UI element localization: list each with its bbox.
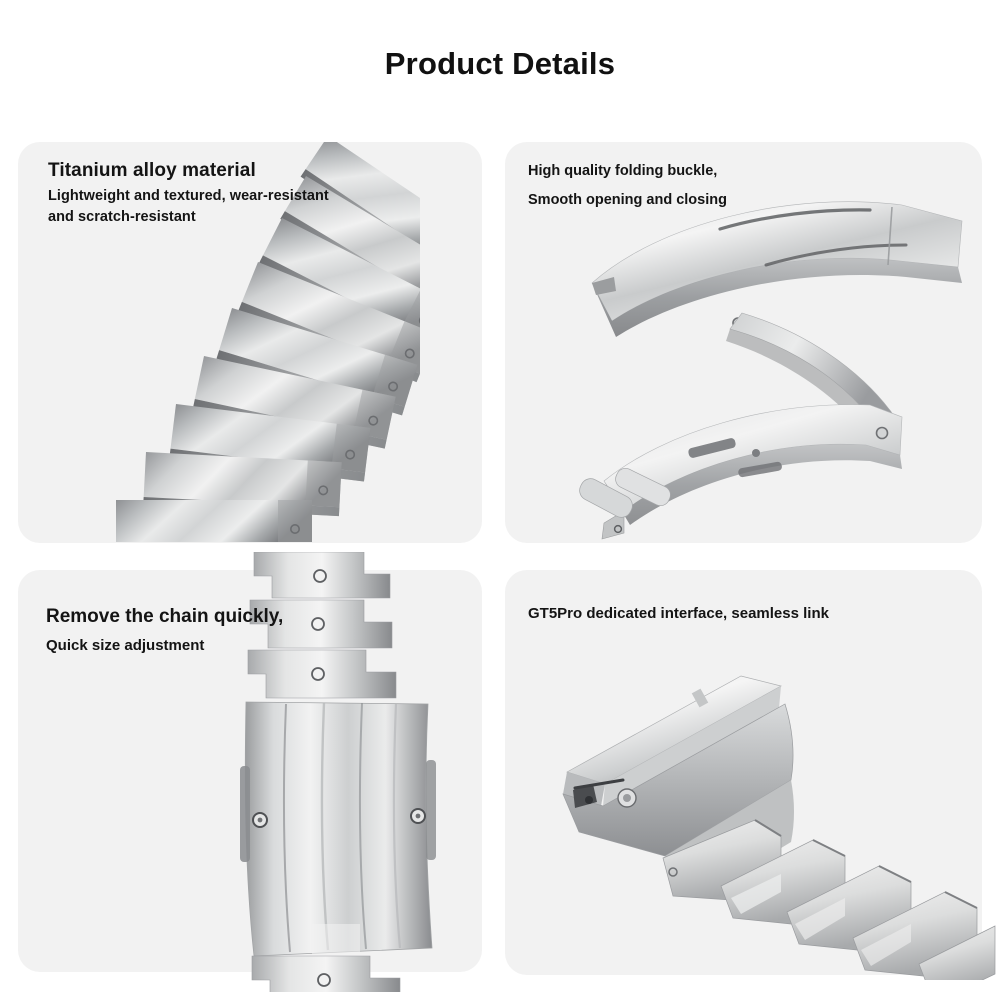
card-heading-gt5pro: GT5Pro dedicated interface, seamless lin… — [528, 605, 829, 622]
card-subheading-buckle: Smooth opening and closing — [528, 192, 727, 208]
card-heading-buckle: High quality folding buckle, — [528, 163, 717, 179]
page-title: Product Details — [0, 46, 1000, 82]
card-subheading-remove-chain: Quick size adjustment — [46, 637, 204, 654]
card-heading-remove-chain: Remove the chain quickly, — [46, 606, 283, 628]
card-heading-titanium: Titanium alloy material — [48, 160, 256, 182]
card-subheading-titanium: Lightweight and textured, wear-resistant… — [48, 186, 348, 227]
quick-release-connector-photo — [545, 660, 995, 995]
folding-buckle-open-photo — [570, 195, 990, 555]
